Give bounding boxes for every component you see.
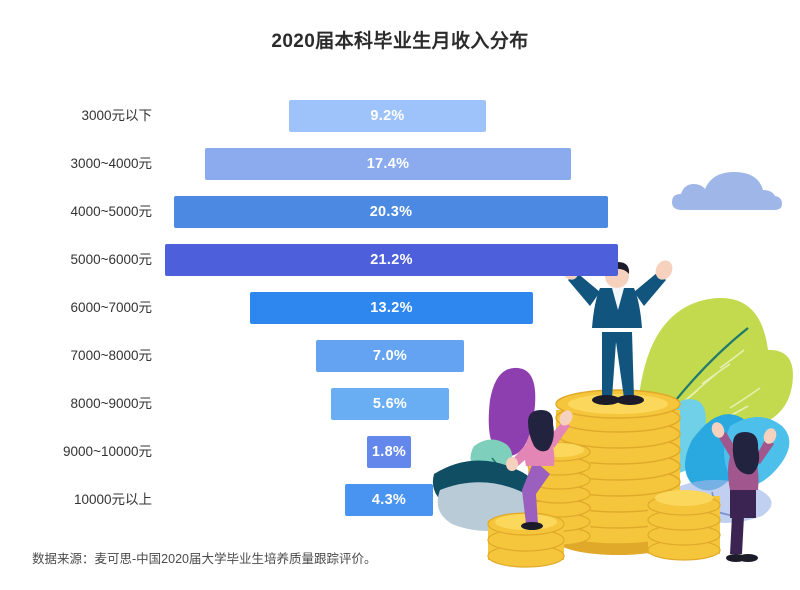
category-label-7: 9000~10000元 [0, 433, 152, 471]
category-label-4: 6000~7000元 [0, 289, 152, 327]
chart-canvas: 2020届本科毕业生月收入分布 [0, 0, 800, 590]
category-label-8: 10000元以上 [0, 481, 152, 519]
category-label-6: 8000~9000元 [0, 385, 152, 423]
source-note: 数据来源：麦可思-中国2020届大学毕业生培养质量跟踪评价。 [32, 548, 376, 567]
chart-row: 8000~9000元 5.6% [0, 385, 800, 423]
category-label-0: 3000元以下 [0, 97, 152, 135]
chart-row: 3000元以下 9.2% [0, 97, 800, 135]
chart-row: 3000~4000元 17.4% [0, 145, 800, 183]
page-title: 2020届本科毕业生月收入分布 [0, 26, 800, 53]
bar-value-6: 5.6% [331, 388, 449, 420]
bar-value-0: 9.2% [289, 100, 486, 132]
bar-value-4: 13.2% [250, 292, 533, 324]
chart-row: 6000~7000元 13.2% [0, 289, 800, 327]
bar-chart: 3000元以下 9.2% 3000~4000元 17.4% 4000~5000元… [0, 92, 800, 522]
chart-row: 9000~10000元 1.8% [0, 433, 800, 471]
category-label-2: 4000~5000元 [0, 193, 152, 231]
category-label-3: 5000~6000元 [0, 241, 152, 279]
bar-value-3: 21.2% [165, 244, 618, 276]
category-label-5: 7000~8000元 [0, 337, 152, 375]
bar-value-8: 4.3% [345, 484, 433, 516]
bar-value-1: 17.4% [205, 148, 571, 180]
bar-value-5: 7.0% [316, 340, 464, 372]
bar-value-2: 20.3% [174, 196, 608, 228]
chart-row: 7000~8000元 7.0% [0, 337, 800, 375]
category-label-1: 3000~4000元 [0, 145, 152, 183]
chart-row: 4000~5000元 20.3% [0, 193, 800, 231]
chart-row: 10000元以上 4.3% [0, 481, 800, 519]
chart-row: 5000~6000元 21.2% [0, 241, 800, 279]
bar-value-7: 1.8% [367, 436, 411, 468]
